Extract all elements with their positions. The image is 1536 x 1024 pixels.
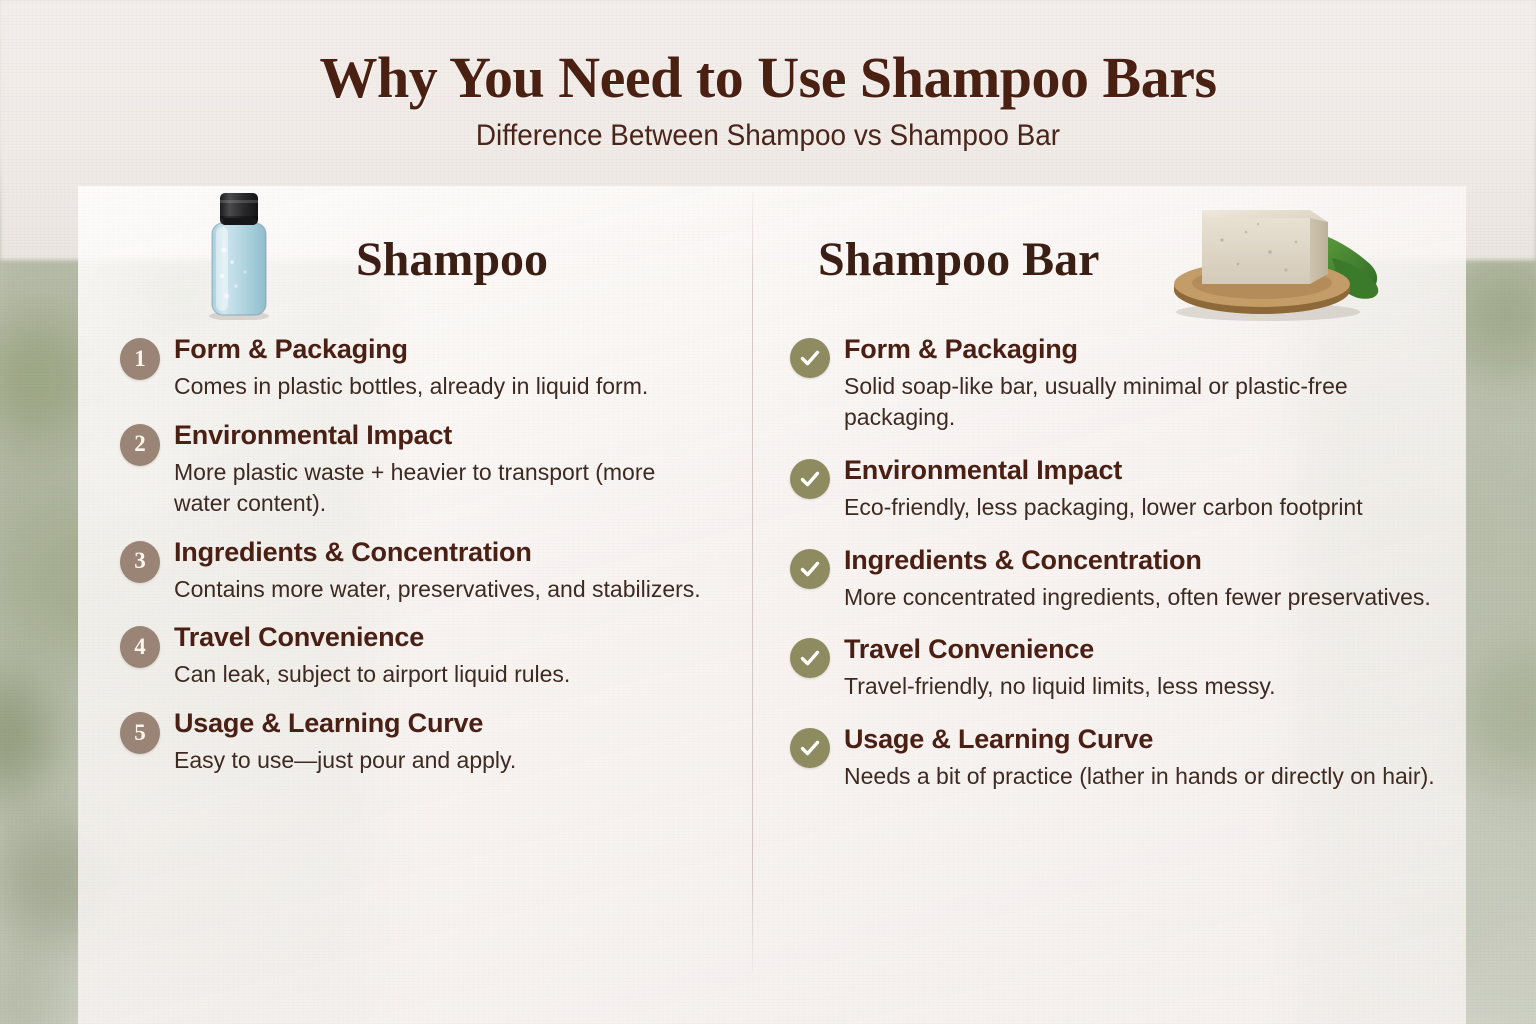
check-icon-3 — [790, 549, 830, 589]
list-item-description: Needs a bit of practice (lather in hands… — [844, 761, 1438, 792]
list-item-body: Ingredients & Concentration More concent… — [844, 545, 1438, 613]
list-item-title: Usage & Learning Curve — [174, 708, 714, 739]
column-shampoo: Shampoo 1 Form & Packaging Comes in plas… — [78, 186, 752, 1024]
number-badge-3: 3 — [120, 541, 160, 583]
list-item-title: Form & Packaging — [174, 334, 714, 365]
list-item-title: Environmental Impact — [174, 420, 714, 451]
list-item-title: Travel Convenience — [174, 622, 714, 653]
check-icon-4 — [790, 638, 830, 678]
number-badge-1: 1 — [120, 338, 160, 380]
list-item-title: Ingredients & Concentration — [174, 537, 714, 568]
list-item-description: Solid soap-like bar, usually minimal or … — [844, 371, 1438, 433]
list-item: 4 Travel Convenience Can leak, subject t… — [120, 622, 714, 690]
list-item-body: Form & Packaging Comes in plastic bottle… — [174, 334, 714, 402]
list-item: Environmental Impact Eco-friendly, less … — [790, 455, 1438, 523]
list-item-body: Form & Packaging Solid soap-like bar, us… — [844, 334, 1438, 433]
list-item: 3 Ingredients & Concentration Contains m… — [120, 537, 714, 605]
list-item-description: More concentrated ingredients, often few… — [844, 582, 1438, 613]
number-badge-label: 2 — [134, 432, 146, 455]
list-item-body: Environmental Impact Eco-friendly, less … — [844, 455, 1438, 523]
header: Why You Need to Use Shampoo Bars Differe… — [0, 0, 1536, 153]
list-item-description: Easy to use—just pour and apply. — [174, 745, 714, 776]
number-badge-label: 3 — [134, 549, 146, 572]
list-item: Travel Convenience Travel-friendly, no l… — [790, 634, 1438, 702]
page-title: Why You Need to Use Shampoo Bars — [0, 48, 1536, 109]
number-badge-label: 1 — [134, 347, 146, 370]
column-shampoo-list: 1 Form & Packaging Comes in plastic bott… — [120, 334, 714, 794]
number-badge-5: 5 — [120, 712, 160, 754]
check-icon-1 — [790, 338, 830, 378]
list-item: 1 Form & Packaging Comes in plastic bott… — [120, 334, 714, 402]
list-item-body: Travel Convenience Travel-friendly, no l… — [844, 634, 1438, 702]
soap-bar-icon — [1150, 196, 1412, 322]
list-item: Usage & Learning Curve Needs a bit of pr… — [790, 724, 1438, 792]
column-shampoo-bar-list: Form & Packaging Solid soap-like bar, us… — [790, 334, 1438, 814]
list-item-title: Travel Convenience — [844, 634, 1438, 665]
check-icon-2 — [790, 459, 830, 499]
list-item-title: Ingredients & Concentration — [844, 545, 1438, 576]
list-item-description: Contains more water, preservatives, and … — [174, 574, 714, 605]
number-badge-label: 5 — [134, 721, 146, 744]
list-item-description: Eco-friendly, less packaging, lower carb… — [844, 492, 1438, 523]
list-item: Ingredients & Concentration More concent… — [790, 545, 1438, 613]
list-item-body: Travel Convenience Can leak, subject to … — [174, 622, 714, 690]
column-shampoo-title: Shampoo — [356, 236, 548, 284]
list-item-description: Comes in plastic bottles, already in liq… — [174, 371, 714, 402]
list-item-title: Usage & Learning Curve — [844, 724, 1438, 755]
list-item-body: Environmental Impact More plastic waste … — [174, 420, 714, 519]
list-item-description: More plastic waste + heavier to transpor… — [174, 457, 714, 519]
number-badge-label: 4 — [134, 635, 146, 658]
list-item-title: Form & Packaging — [844, 334, 1438, 365]
check-icon-5 — [790, 728, 830, 768]
list-item-body: Ingredients & Concentration Contains mor… — [174, 537, 714, 605]
number-badge-4: 4 — [120, 626, 160, 668]
list-item: Form & Packaging Solid soap-like bar, us… — [790, 334, 1438, 433]
column-shampoo-bar-title: Shampoo Bar — [818, 236, 1099, 284]
list-item: 2 Environmental Impact More plastic wast… — [120, 420, 714, 519]
list-item-body: Usage & Learning Curve Needs a bit of pr… — [844, 724, 1438, 792]
page-subtitle: Difference Between Shampoo vs Shampoo Ba… — [54, 119, 1482, 153]
list-item-body: Usage & Learning Curve Easy to use—just … — [174, 708, 714, 776]
list-item-description: Can leak, subject to airport liquid rule… — [174, 659, 714, 690]
list-item: 5 Usage & Learning Curve Easy to use—jus… — [120, 708, 714, 776]
list-item-title: Environmental Impact — [844, 455, 1438, 486]
number-badge-2: 2 — [120, 424, 160, 466]
infographic-canvas: Why You Need to Use Shampoo Bars Differe… — [0, 0, 1536, 1024]
shampoo-bottle-icon — [198, 188, 280, 320]
list-item-description: Travel-friendly, no liquid limits, less … — [844, 671, 1438, 702]
